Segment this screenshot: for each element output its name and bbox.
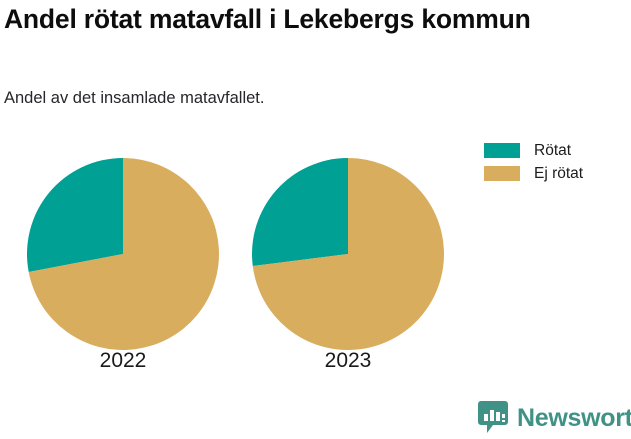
pie-svg-2023 [252,158,444,350]
bar-chart-speech-bubble-icon [478,401,508,435]
legend-item-rotat[interactable]: Rötat [484,143,583,159]
pie-slices-2022 [27,158,219,350]
legend-item-ej-rotat[interactable]: Ej rötat [484,166,583,182]
pie-slices-2023 [252,158,444,350]
pie-svg-2022 [27,158,219,350]
page-title: Andel rötat matavfall i Lekebergs kommun [4,2,544,36]
legend-label-rotat: Rötat [534,143,571,159]
pie-chart-2022: 2022 [27,158,219,373]
pie-slice-rötat[interactable] [27,158,123,272]
pie-label-2023: 2023 [252,350,444,371]
legend-swatch-ej-rotat [484,166,520,181]
pie-slice-rötat[interactable] [252,158,348,266]
pie-chart-2023: 2023 [252,158,444,373]
pie-label-2022: 2022 [27,350,219,371]
chart-subtitle: Andel av det insamlade matavfallet. [4,88,564,109]
newsworthy-logo[interactable]: Newsworthy [478,401,631,435]
newsworthy-wordmark: Newsworthy [517,406,631,431]
chart-legend: Rötat Ej rötat [484,143,583,181]
legend-label-ej-rotat: Ej rötat [534,166,583,182]
legend-swatch-rotat [484,143,520,158]
